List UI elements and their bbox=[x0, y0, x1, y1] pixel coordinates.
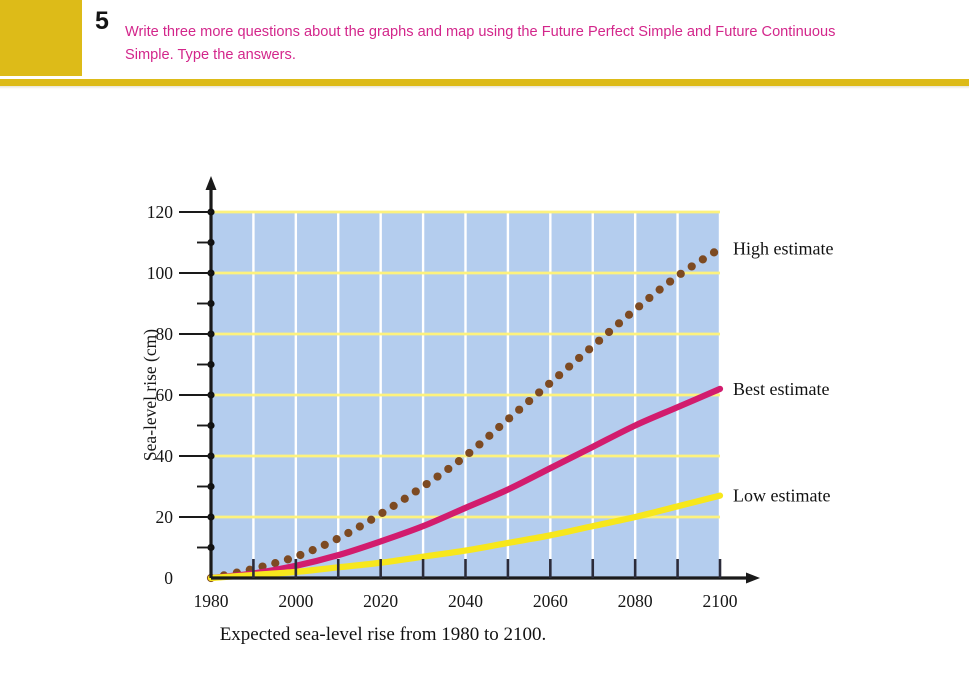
exercise-instruction: Write three more questions about the gra… bbox=[125, 21, 885, 67]
sea-level-figure: 1980200020202040206020802100 02040608010… bbox=[0, 95, 969, 691]
x-axis-tick-labels: 1980200020202040206020802100 bbox=[194, 591, 738, 611]
legend-label-high-estimate: High estimate bbox=[733, 239, 833, 259]
header-divider-bar bbox=[0, 79, 969, 86]
x-tick-label: 2080 bbox=[618, 591, 653, 611]
y-axis-title: Sea-level rise (cm) bbox=[140, 329, 160, 461]
y-tick-label: 0 bbox=[164, 568, 173, 588]
exercise-header: 5 Write three more questions about the g… bbox=[0, 0, 969, 76]
x-tick-label: 2020 bbox=[363, 591, 398, 611]
x-tick-label: 2100 bbox=[703, 591, 738, 611]
legend-label-low-estimate: Low estimate bbox=[733, 486, 830, 506]
x-tick-label: 2040 bbox=[448, 591, 483, 611]
legend-label-best-estimate: Best estimate bbox=[733, 379, 829, 399]
exercise-number: 5 bbox=[95, 9, 123, 34]
x-tick-label: 2060 bbox=[533, 591, 568, 611]
y-tick-label: 120 bbox=[147, 202, 174, 222]
header-divider-shadow bbox=[0, 86, 969, 89]
x-tick-label: 2000 bbox=[278, 591, 313, 611]
header-accent-block bbox=[0, 0, 82, 76]
x-tick-label: 1980 bbox=[194, 591, 229, 611]
chart-legend: High estimateBest estimateLow estimate bbox=[733, 239, 833, 506]
y-tick-label: 20 bbox=[156, 507, 174, 527]
sea-level-chart: 1980200020202040206020802100 02040608010… bbox=[0, 95, 969, 691]
chart-caption: Expected sea-level rise from 1980 to 210… bbox=[220, 624, 547, 645]
y-tick-label: 100 bbox=[147, 263, 174, 283]
